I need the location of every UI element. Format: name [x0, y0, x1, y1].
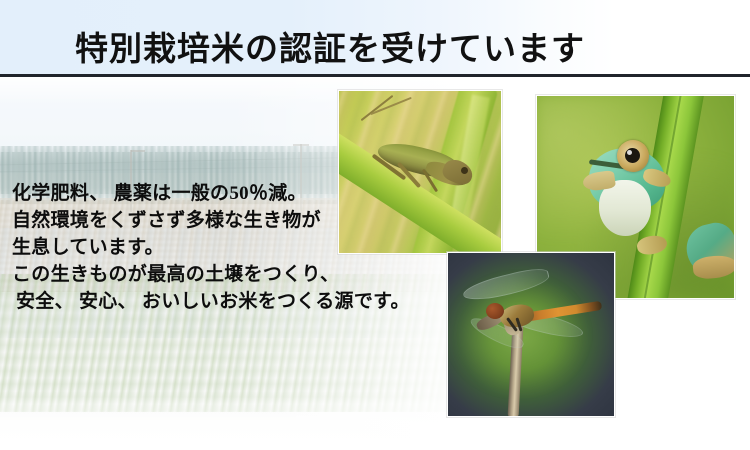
- grasshopper-eye: [461, 167, 468, 174]
- frog-eye-glint: [627, 150, 632, 155]
- photo-dragonfly-on-stem: [447, 252, 615, 417]
- photo-grasshopper-on-rice: [338, 90, 502, 254]
- dragonfly-head: [486, 303, 504, 319]
- photo-grasshopper-content: [339, 91, 501, 253]
- header-divider: [0, 74, 750, 77]
- page-title: 特別栽培米の認証を受けています: [75, 22, 585, 70]
- promotional-banner: 特別栽培米の認証を受けています 化学肥料、 農薬は一般の50％減。 自然環境をく…: [0, 0, 750, 450]
- photo-dragonfly-content: [448, 253, 614, 416]
- body-line-4: この生きものが最高の土壌をつくり、: [12, 261, 412, 288]
- header-bar: 特別栽培米の認証を受けています: [0, 0, 750, 75]
- body-line-5: 安全、 安心、 おいしいお米をつくる源です。: [12, 288, 412, 315]
